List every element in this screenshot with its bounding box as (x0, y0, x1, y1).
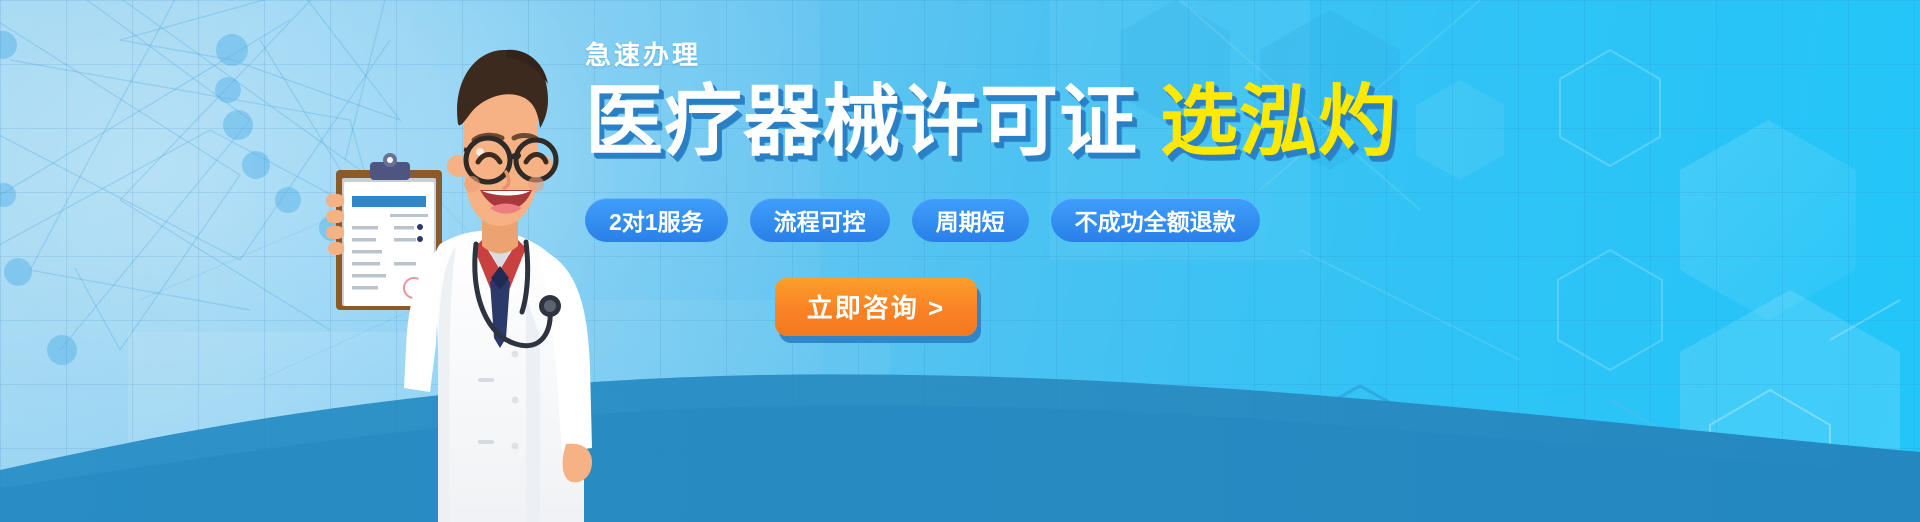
eyebrow-text: 急速办理 (585, 42, 1345, 68)
feature-pill-2[interactable]: 流程可控 (750, 198, 890, 242)
doctor-body (404, 231, 592, 522)
cta-container: 立即咨询 > (775, 278, 1345, 336)
feature-pill-1[interactable]: 2对1服务 (585, 198, 728, 242)
feature-pill-4[interactable]: 不成功全额退款 (1051, 198, 1260, 242)
headline-accent: 选泓灼 (1160, 77, 1397, 165)
headline: 医疗器械许可证选泓灼 (585, 82, 1345, 162)
feature-pill-list: 2对1服务 流程可控 周期短 不成功全额退款 (585, 198, 1345, 242)
promo-banner: 急速办理 医疗器械许可证选泓灼 2对1服务 流程可控 周期短 不成功全额退款 立… (0, 0, 1920, 522)
doctor-head (447, 50, 556, 226)
doctor-illustration (330, 48, 620, 522)
headline-primary: 医疗器械许可证 (585, 77, 1138, 165)
feature-pill-3[interactable]: 周期短 (912, 198, 1029, 242)
banner-content: 急速办理 医疗器械许可证选泓灼 2对1服务 流程可控 周期短 不成功全额退款 立… (585, 42, 1345, 336)
consult-now-button[interactable]: 立即咨询 > (775, 278, 977, 336)
